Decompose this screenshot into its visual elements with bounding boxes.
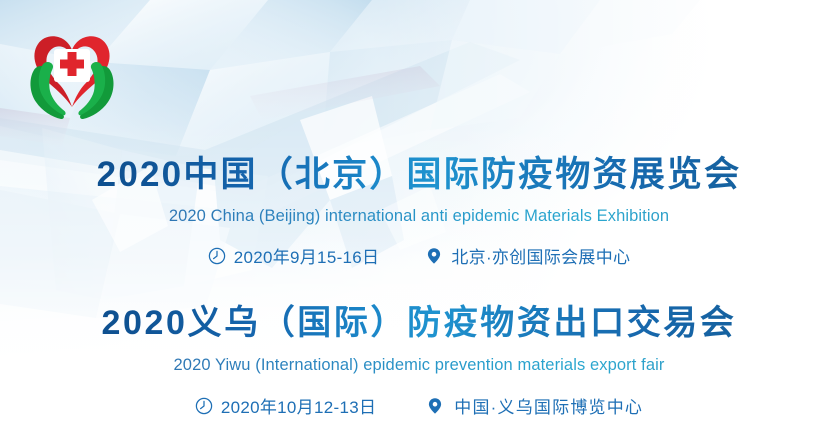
event-meta-row: 2020年10月12-13日 中国·义乌国际博览中心 (0, 393, 838, 418)
event-subtitle-en: 2020 Yiwu (International) epidemic preve… (0, 354, 838, 376)
event-banner: 2020中国（北京）国际防疫物资展览会 2020 China (Beijing)… (0, 0, 838, 445)
event-date-text: 2020年10月12-13日 (221, 393, 376, 418)
event-location-text: 北京·亦创国际会展中心 (451, 243, 630, 268)
event-subtitle-en: 2020 China (Beijing) international anti … (0, 205, 838, 227)
event-location-text: 中国·义乌国际博览中心 (454, 393, 643, 418)
event-title-cn: 2020中国（北京）国际防疫物资展览会 (0, 152, 838, 198)
event-location: 中国·义乌国际博览中心 (426, 393, 643, 418)
map-pin-icon (426, 397, 444, 415)
map-pin-icon (425, 247, 443, 265)
epidemic-prevention-heart-hands-logo (24, 22, 120, 122)
event-block-yiwu: 2020义乌（国际）防疫物资出口交易会 2020 Yiwu (Internati… (0, 300, 838, 418)
event-meta-row: 2020年9月15-16日 北京·亦创国际会展中心 (0, 243, 838, 268)
event-date: 2020年10月12-13日 (195, 393, 376, 418)
event-location: 北京·亦创国际会展中心 (425, 243, 630, 268)
clock-icon (208, 247, 226, 265)
event-title-cn: 2020义乌（国际）防疫物资出口交易会 (0, 300, 838, 346)
event-date: 2020年9月15-16日 (208, 243, 380, 268)
event-block-beijing: 2020中国（北京）国际防疫物资展览会 2020 China (Beijing)… (0, 152, 838, 268)
clock-icon (195, 397, 213, 415)
event-date-text: 2020年9月15-16日 (234, 243, 380, 268)
